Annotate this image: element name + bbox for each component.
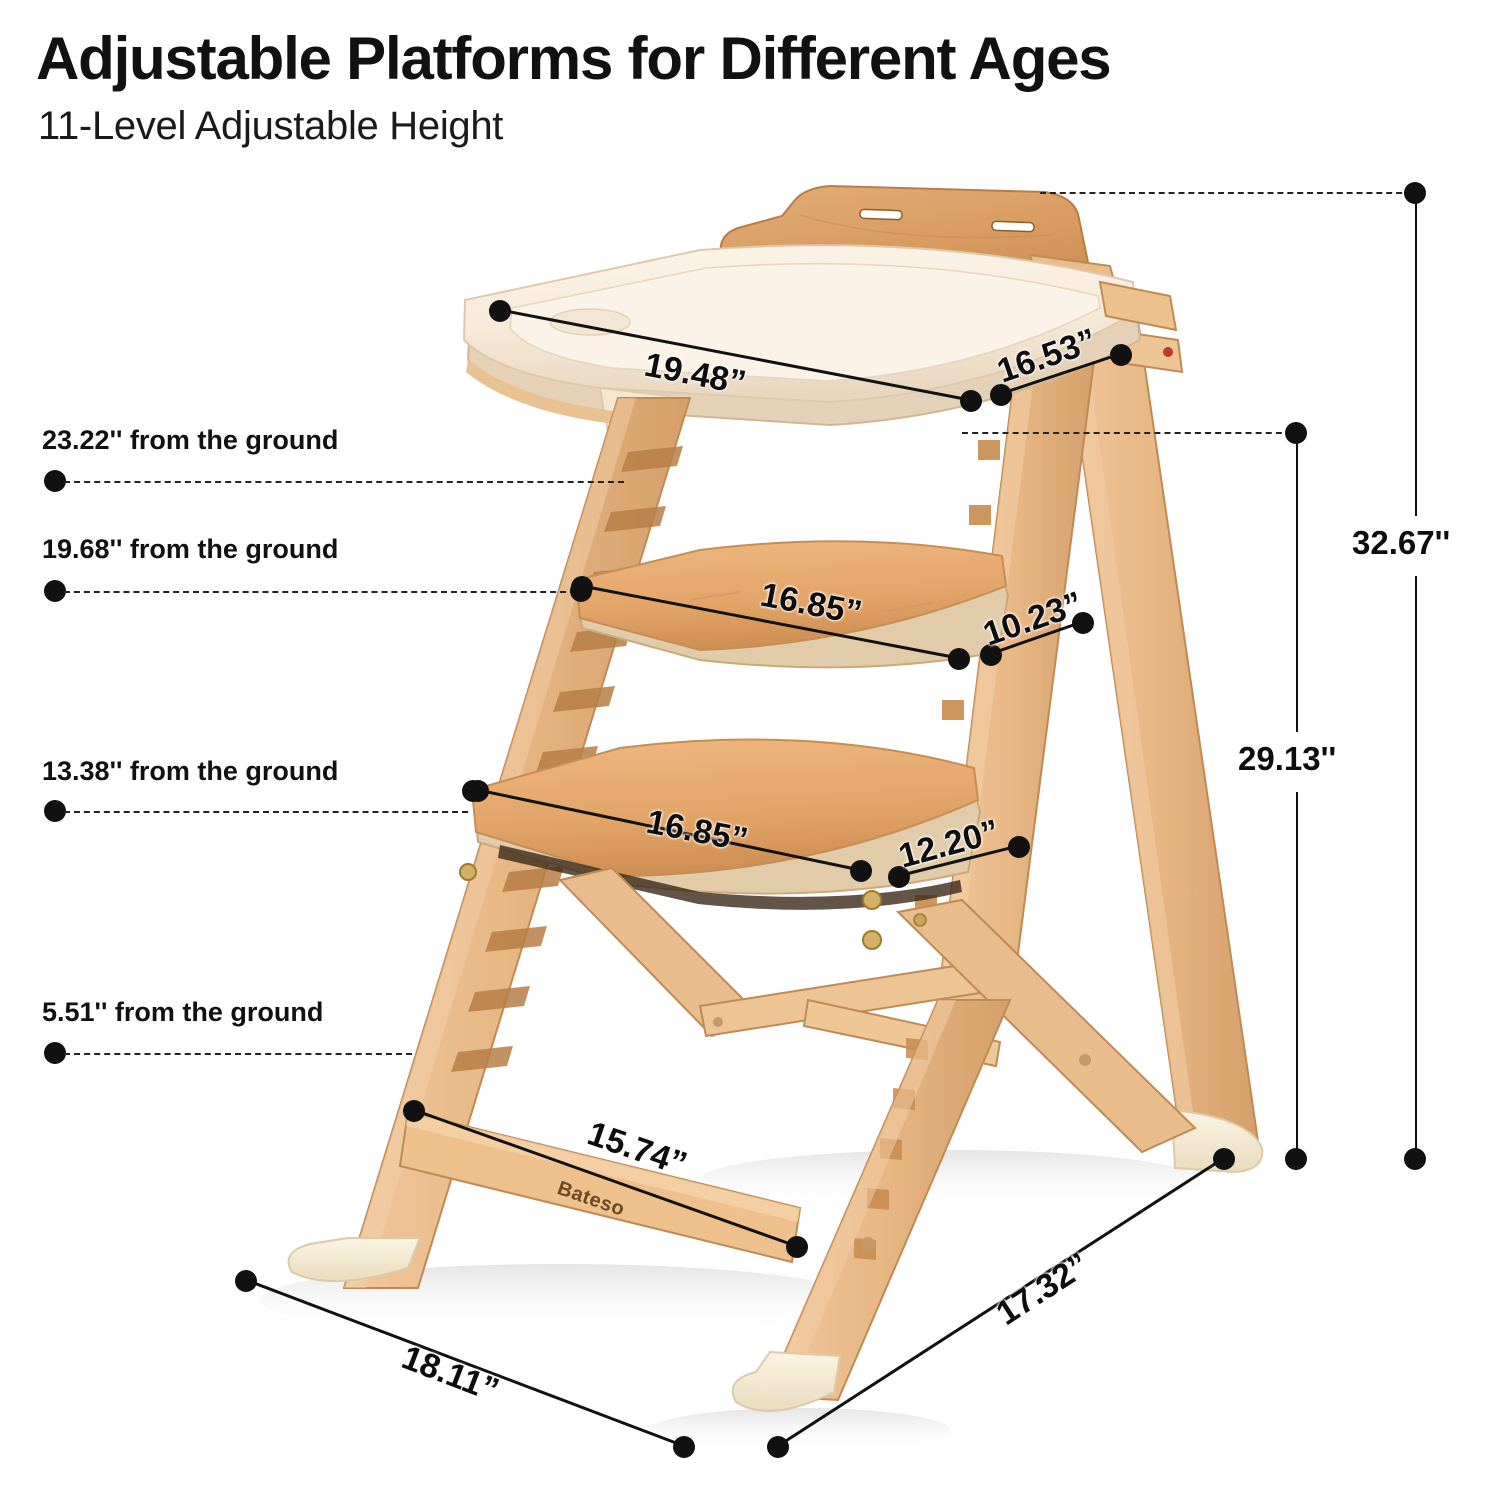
callout-dot-1 [44, 470, 66, 492]
dot-upper-width-left [571, 576, 593, 598]
dot-footrest-left [403, 1100, 425, 1122]
dot-tray-width-left [489, 300, 511, 322]
height-leader-top-inner [962, 432, 1292, 434]
dot-base-width-right [673, 1436, 695, 1458]
dimension-back-height: 29.13'' [1238, 740, 1336, 778]
callout-leader-1 [64, 481, 624, 483]
height-line-upper-inner [1296, 436, 1298, 732]
callout-label-1: 23.22'' from the ground [42, 425, 338, 456]
callout-label-3: 13.38'' from the ground [42, 756, 338, 787]
dimension-total-height: 32.67'' [1352, 524, 1450, 562]
dot-tray-width-right [960, 390, 982, 412]
height-dot-bottom-inner [1285, 1148, 1307, 1170]
callout-leader-4 [64, 1053, 412, 1055]
dot-base-depth-back [1213, 1148, 1235, 1170]
dot-lower-width-left [467, 780, 489, 802]
dot-base-width-left [235, 1270, 257, 1292]
dot-base-depth-front [767, 1436, 789, 1458]
callout-leader-2 [64, 591, 576, 593]
callout-dot-4 [44, 1042, 66, 1064]
height-leader-top-outer [1040, 192, 1412, 194]
dot-tray-depth-right [1110, 344, 1132, 366]
height-line-lower-outer [1415, 576, 1417, 1156]
height-line-upper-outer [1415, 196, 1417, 516]
callout-dot-3 [44, 800, 66, 822]
dot-lower-width-right [850, 860, 872, 882]
height-line-lower-inner [1296, 792, 1298, 1156]
front-right-foot-cap [733, 1352, 840, 1411]
dot-footrest-right [786, 1236, 808, 1258]
callout-label-2: 19.68'' from the ground [42, 534, 338, 565]
height-dot-bottom-outer [1404, 1148, 1426, 1170]
dot-lower-depth-right [1008, 836, 1030, 858]
dot-upper-width-right [948, 648, 970, 670]
back-support-column [915, 330, 1098, 1000]
callout-leader-3 [64, 811, 468, 813]
product-dimension-diagram: Adjustable Platforms for Different Ages … [0, 0, 1500, 1500]
callout-label-4: 5.51'' from the ground [42, 997, 323, 1028]
callout-dot-2 [44, 580, 66, 602]
